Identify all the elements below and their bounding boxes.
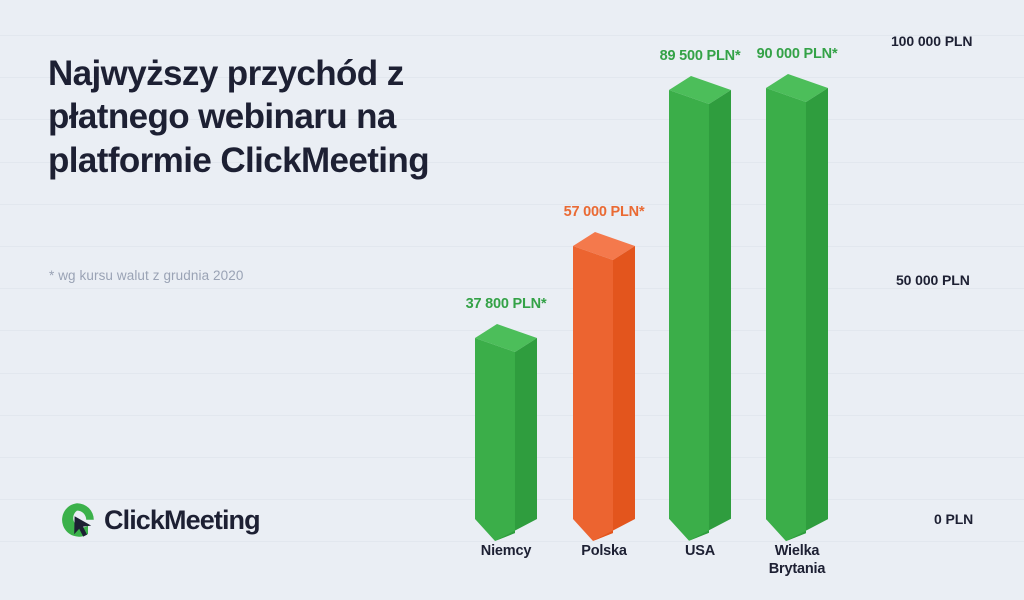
bar-polska[interactable]: [573, 232, 636, 543]
y-tick-50000: 50 000 PLN: [896, 272, 970, 288]
info-panel: Najwyższy przychód z płatnego webinaru n…: [0, 0, 460, 600]
bar-value-label-wielka-brytania: 90 000 PLN*: [727, 46, 867, 62]
footnote-text: * wg kursu walut z grudnia 2020: [49, 268, 243, 283]
bar-usa[interactable]: [669, 76, 732, 543]
category-label-wielka-brytania: WielkaBrytania: [727, 543, 867, 578]
page-title: Najwyższy przychód z płatnego webinaru n…: [48, 52, 448, 182]
clickmeeting-cursor-logo-icon: [57, 500, 97, 540]
clickmeeting-logo: ClickMeeting: [57, 500, 260, 540]
y-tick-100000: 100 000 PLN: [891, 33, 972, 49]
bar-value-label-polska: 57 000 PLN*: [534, 204, 674, 220]
y-tick-0: 0 PLN: [934, 511, 973, 527]
brand-name: ClickMeeting: [104, 505, 260, 536]
bar-wielka-brytania[interactable]: [766, 74, 829, 543]
bar-niemcy[interactable]: [475, 324, 538, 543]
